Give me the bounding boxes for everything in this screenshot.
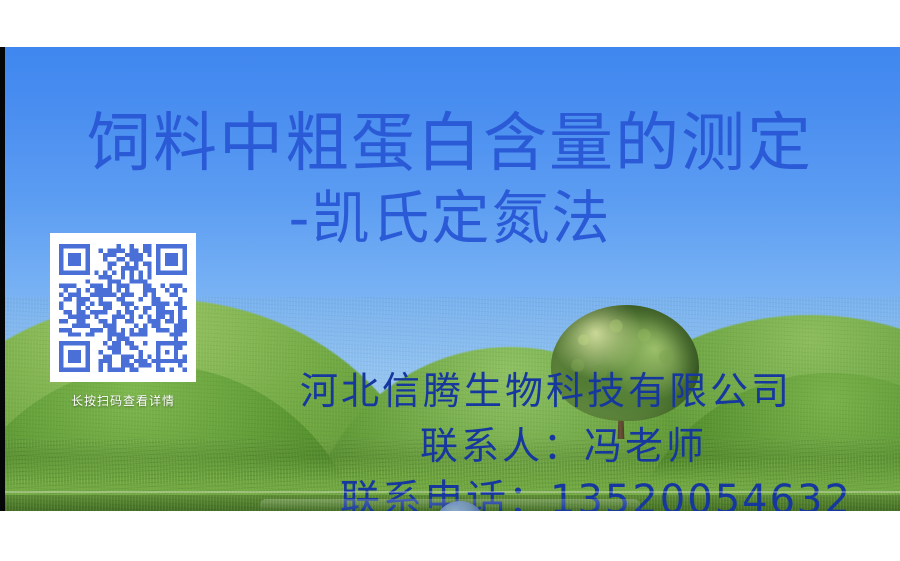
qr-block[interactable]: 长按扫码查看详情 [50,233,196,409]
video-title-main: 饲料中粗蛋白含量的测定 [0,110,900,179]
qr-code-icon[interactable] [50,233,196,382]
company-name: 河北信腾生物科技有限公司 [300,360,792,415]
qr-caption: 长按扫码查看详情 [50,392,196,409]
video-title-sub: -凯氏定氮法 [0,187,900,250]
qr-code-canvas [59,244,187,372]
progress-bar[interactable] [0,491,900,493]
left-letterbox [0,47,5,511]
video-player[interactable]: 饲料中粗蛋白含量的测定 -凯氏定氮法 河北信腾生物科技有限公司 联系人：冯老师 … [0,47,900,511]
contact-person: 联系人：冯老师 [420,415,707,470]
page-root: 饲料中粗蛋白含量的测定 -凯氏定氮法 河北信腾生物科技有限公司 联系人：冯老师 … [0,0,900,561]
